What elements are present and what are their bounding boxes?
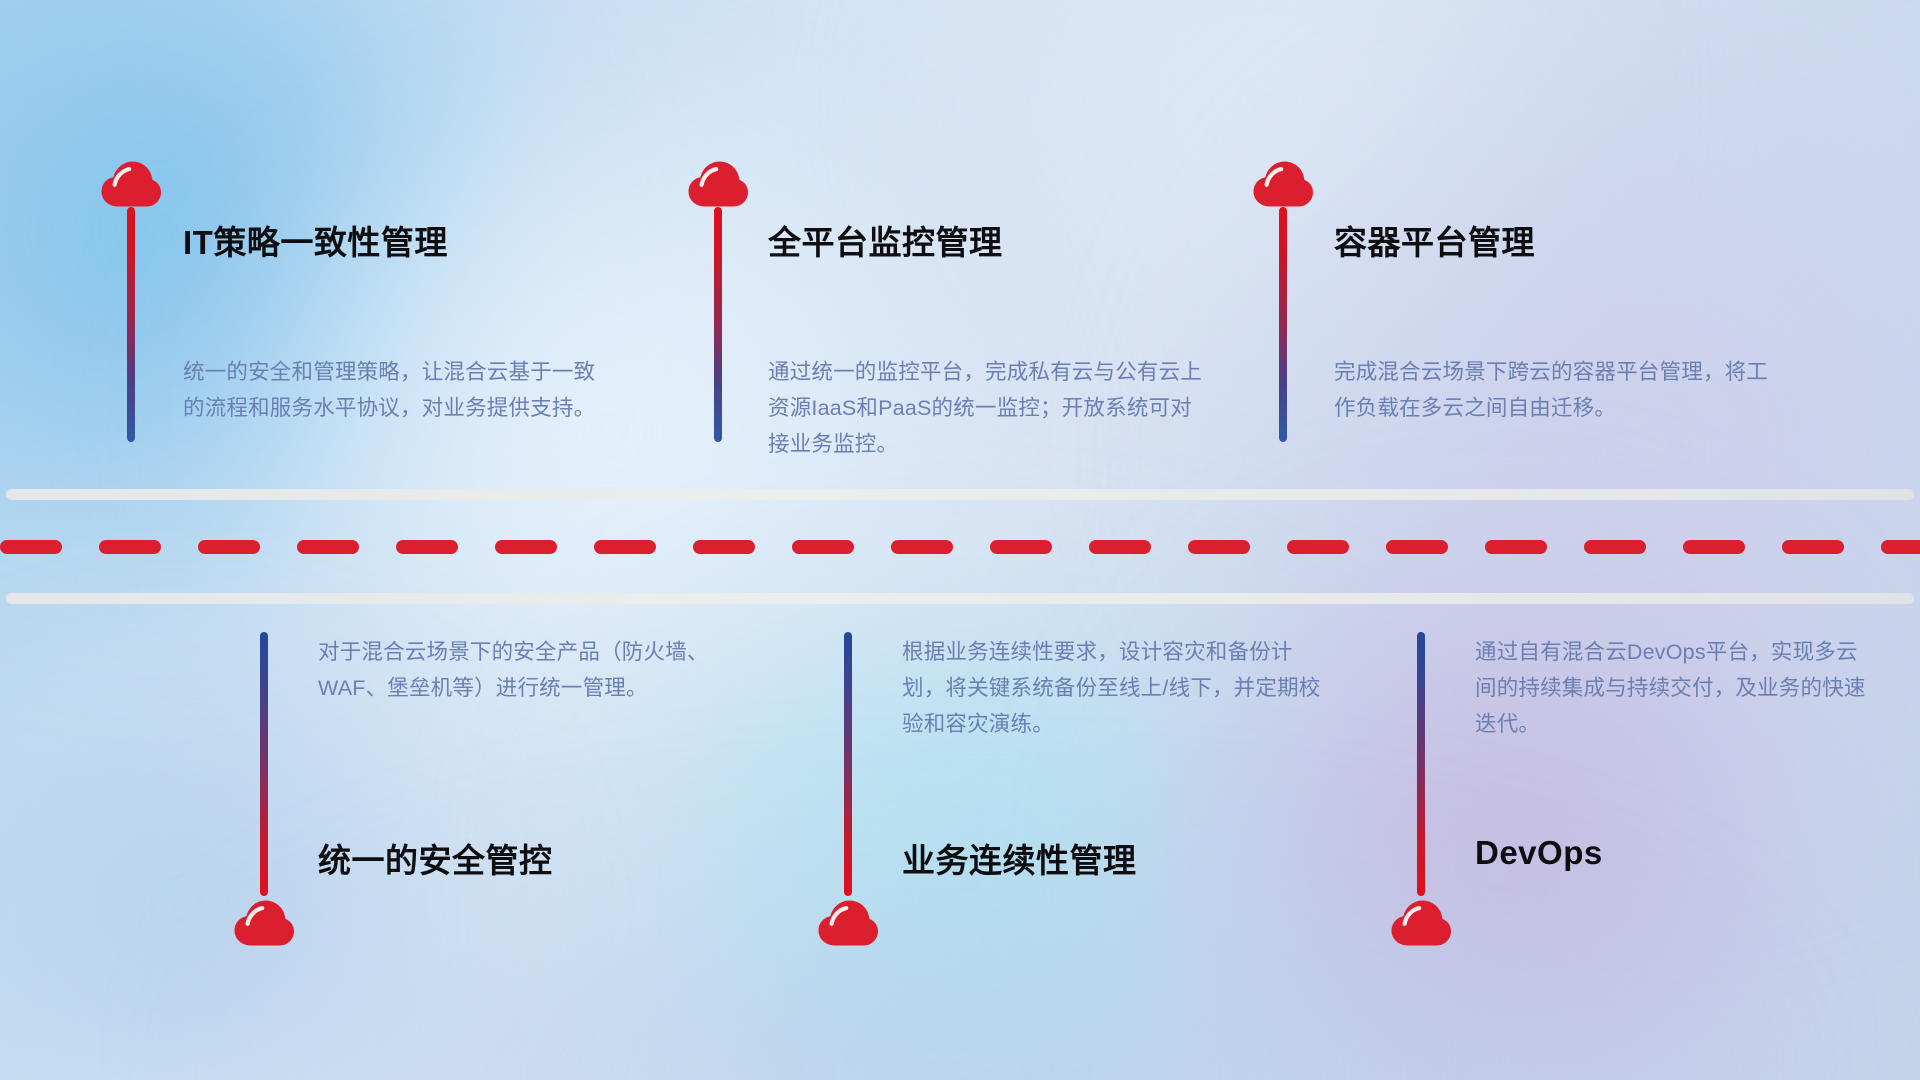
cloud-icon — [817, 899, 879, 947]
heading-devops: DevOps — [1475, 834, 1603, 872]
heading-business-continuity: 业务连续性管理 — [902, 834, 1137, 882]
cloud-icon — [1252, 160, 1314, 208]
heading-unified-security: 统一的安全管控 — [318, 834, 553, 882]
road-rail-top — [6, 489, 1914, 500]
road-dash — [0, 540, 62, 554]
road-dash — [198, 540, 260, 554]
road-dash-line — [0, 540, 1920, 554]
pin-stem — [127, 207, 135, 442]
road-dash — [495, 540, 557, 554]
heading-full-platform-monitoring: 全平台监控管理 — [768, 216, 1003, 264]
pin-stem — [714, 207, 722, 442]
road-dash — [1683, 540, 1745, 554]
road-dash — [693, 540, 755, 554]
body-devops: 通过自有混合云DevOps平台，实现多云间的持续集成与持续交付，及业务的快速迭代… — [1475, 634, 1875, 742]
road-rail-bottom — [6, 593, 1914, 604]
road-dash — [792, 540, 854, 554]
road-dash — [1287, 540, 1349, 554]
road-dash — [1386, 540, 1448, 554]
road-dash — [1881, 540, 1920, 554]
road-dash — [990, 540, 1052, 554]
pin-stem — [844, 632, 852, 896]
road-dash — [1584, 540, 1646, 554]
pin-stem — [260, 632, 268, 896]
cloud-icon — [687, 160, 749, 208]
cloud-icon — [233, 899, 295, 947]
body-it-policy-consistency: 统一的安全和管理策略，让混合云基于一致的流程和服务水平协议，对业务提供支持。 — [183, 354, 613, 426]
road-dash — [1782, 540, 1844, 554]
heading-it-policy-consistency: IT策略一致性管理 — [183, 216, 448, 264]
road-dash — [594, 540, 656, 554]
pin-stem — [1279, 207, 1287, 442]
body-full-platform-monitoring: 通过统一的监控平台，完成私有云与公有云上资源IaaS和PaaS的统一监控；开放系… — [768, 354, 1208, 462]
cloud-icon — [100, 160, 162, 208]
road-dash — [1188, 540, 1250, 554]
infographic-canvas: IT策略一致性管理 统一的安全和管理策略，让混合云基于一致的流程和服务水平协议，… — [0, 0, 1920, 1080]
road-dash — [396, 540, 458, 554]
body-business-continuity: 根据业务连续性要求，设计容灾和备份计划，将关键系统备份至线上/线下，并定期校验和… — [902, 634, 1332, 742]
road-dash — [99, 540, 161, 554]
body-unified-security: 对于混合云场景下的安全产品（防火墙、WAF、堡垒机等）进行统一管理。 — [318, 634, 748, 706]
body-container-platform: 完成混合云场景下跨云的容器平台管理，将工作负载在多云之间自由迁移。 — [1334, 354, 1774, 426]
road-dash — [1485, 540, 1547, 554]
pin-stem — [1417, 632, 1425, 896]
heading-container-platform: 容器平台管理 — [1334, 216, 1535, 264]
road-dash — [297, 540, 359, 554]
road-dash — [891, 540, 953, 554]
cloud-icon — [1390, 899, 1452, 947]
road-dash — [1089, 540, 1151, 554]
